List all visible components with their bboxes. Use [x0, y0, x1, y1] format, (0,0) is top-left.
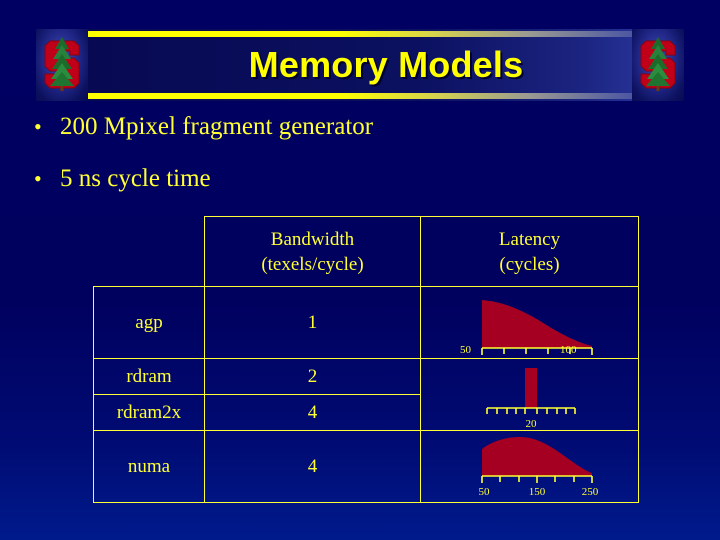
row-bandwidth-numa: 4 [205, 431, 421, 503]
row-bandwidth-rdram2x: 4 [205, 395, 421, 431]
table-row: numa 4 50 [94, 431, 639, 503]
table-corner-cell [94, 217, 205, 287]
stanford-s-tree-logo-icon [36, 29, 88, 101]
row-label-agp: agp [94, 287, 205, 359]
list-item: • 5 ns cycle time [34, 164, 634, 194]
rdram-latency-chart: 20 [421, 360, 638, 430]
title-banner: Memory Models [36, 29, 684, 101]
bullet-marker-icon: • [34, 112, 60, 142]
column-header-bandwidth-line1: Bandwidth [205, 227, 420, 252]
bullet-text: 5 ns cycle time [60, 164, 634, 194]
latency-chart-rdram: 20 [421, 359, 639, 431]
agp-axis-labels: 50 100 [460, 344, 580, 358]
tick-label-rdram-20: 20 [525, 418, 537, 430]
row-label-rdram2x: rdram2x [94, 395, 205, 431]
tick-label-agp-50: 50 [460, 344, 471, 356]
slide-canvas: Memory Models • 200 Mpixel fragment gene… [0, 0, 720, 540]
tick-label-agp-100: 100 [560, 344, 577, 356]
tick-label-numa-250: 250 [581, 486, 598, 498]
row-bandwidth-agp: 1 [205, 287, 421, 359]
row-bandwidth-rdram: 2 [205, 359, 421, 395]
tick-label-numa-50: 50 [478, 486, 490, 498]
column-header-latency-line2: (cycles) [421, 252, 638, 277]
latency-chart-numa: 50 150 250 [421, 431, 639, 503]
tick-label-numa-150: 150 [528, 486, 545, 498]
table-row: rdram 2 [94, 359, 639, 395]
bullet-text: 200 Mpixel fragment generator [60, 112, 634, 142]
column-header-bandwidth: Bandwidth (texels/cycle) [205, 217, 421, 287]
column-header-latency-line1: Latency [421, 227, 638, 252]
row-label-rdram: rdram [94, 359, 205, 395]
column-header-bandwidth-line2: (texels/cycle) [205, 252, 420, 277]
column-header-latency: Latency (cycles) [421, 217, 639, 287]
numa-latency-chart: 50 150 250 [421, 431, 638, 502]
page-title: Memory Models [88, 36, 684, 94]
row-label-numa: numa [94, 431, 205, 503]
bullet-marker-icon: • [34, 164, 60, 194]
list-item: • 200 Mpixel fragment generator [34, 112, 634, 142]
table-header-row: Bandwidth (texels/cycle) Latency (cycles… [94, 217, 639, 287]
bullet-list: • 200 Mpixel fragment generator • 5 ns c… [34, 112, 634, 216]
memory-models-table: Bandwidth (texels/cycle) Latency (cycles… [93, 216, 639, 503]
